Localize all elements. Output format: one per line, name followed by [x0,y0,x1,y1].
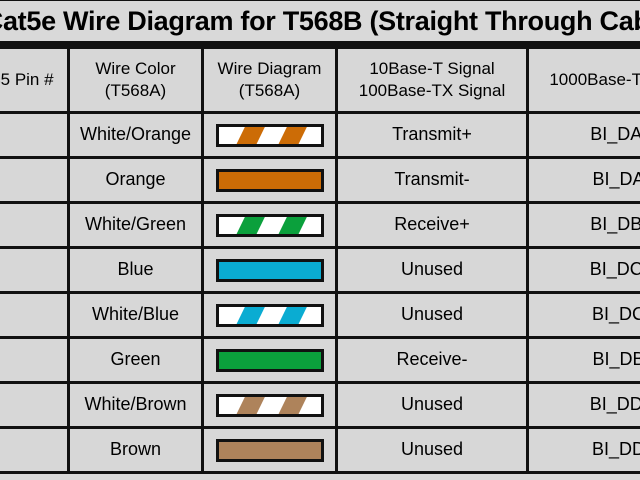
table-body: 1White/OrangeTransmit+BI_DA+2OrangeTrans… [0,114,640,471]
table-row: 1White/OrangeTransmit+BI_DA+ [0,114,640,156]
column-header-wire-diagram: Wire Diagram (T568A) [204,49,335,111]
cell-wire-color: Brown [70,429,201,471]
table-row: 3White/GreenReceive+BI_DB+ [0,204,640,246]
column-header-pin: RJ45 Pin # [0,49,67,111]
cell-10-100-signal: Unused [338,384,526,426]
cell-10-100-signal: Unused [338,249,526,291]
wire-swatch-striped [216,394,324,417]
table-row: 8BrownUnusedBI_DD- [0,429,640,471]
wire-stripe [229,304,269,327]
cell-pin-number: 2 [0,159,67,201]
cell-wire-color: White/Orange [70,114,201,156]
cell-wire-diagram [204,249,335,291]
cell-10-100-signal: Transmit- [338,159,526,201]
column-header-wire-color-line1: Wire Color [95,59,175,78]
column-header-1000base-t-line1: 1000Base-T Signal [549,70,640,89]
cell-1000-signal: BI_DA+ [529,114,640,156]
cell-1000-signal: BI_DC- [529,294,640,336]
cell-1000-signal: BI_DB- [529,339,640,381]
cell-pin-number: 7 [0,384,67,426]
screenshot-viewport: Cat5e Wire Diagram for T568B (Straight T… [0,0,640,480]
table-header: RJ45 Pin # Wire Color (T568A) Wire Diagr… [0,49,640,111]
column-header-wire-diagram-line1: Wire Diagram [218,59,322,78]
cell-pin-number: 3 [0,204,67,246]
cell-wire-color: White/Blue [70,294,201,336]
cell-10-100-signal: Unused [338,294,526,336]
cell-wire-diagram [204,339,335,381]
cell-pin-number: 6 [0,339,67,381]
column-header-wire-color-line2: (T568A) [70,80,201,102]
wire-swatch-solid [216,169,324,192]
wire-swatch-solid [216,439,324,462]
diagram-title-bar: Cat5e Wire Diagram for T568B (Straight T… [0,0,640,46]
column-header-1000-signal: 1000Base-T Signal [529,49,640,111]
table-row: 4BlueUnusedBI_DC+ [0,249,640,291]
cell-1000-signal: BI_DC+ [529,249,640,291]
wire-pinout-table: RJ45 Pin # Wire Color (T568A) Wire Diagr… [0,46,640,474]
column-header-wire-diagram-line2: (T568A) [204,80,335,102]
wire-stripe [271,124,311,147]
wire-stripe [229,124,269,147]
wire-stripe [271,394,311,417]
wire-stripe [229,214,269,237]
wire-swatch-solid [216,349,324,372]
cell-wire-diagram [204,114,335,156]
wire-swatch-striped [216,304,324,327]
cell-1000-signal: BI_DB+ [529,204,640,246]
cell-wire-diagram [204,159,335,201]
cell-pin-number: 1 [0,114,67,156]
column-header-10base-t: 10Base-T Signal [369,59,494,78]
cell-pin-number: 5 [0,294,67,336]
column-header-100base-tx: 100Base-TX Signal [338,80,526,102]
cell-10-100-signal: Transmit+ [338,114,526,156]
wire-diagram-sheet: Cat5e Wire Diagram for T568B (Straight T… [0,0,640,474]
cell-10-100-signal: Receive- [338,339,526,381]
cell-wire-diagram [204,429,335,471]
cell-1000-signal: BI_DD+ [529,384,640,426]
cell-pin-number: 4 [0,249,67,291]
table-row: 5White/BlueUnusedBI_DC- [0,294,640,336]
table-row: 2OrangeTransmit-BI_DA- [0,159,640,201]
column-header-wire-color: Wire Color (T568A) [70,49,201,111]
column-header-pin-line1: RJ45 Pin # [0,70,54,89]
wire-stripe [271,304,311,327]
wire-stripe [229,394,269,417]
cell-1000-signal: BI_DD- [529,429,640,471]
wire-swatch-striped [216,124,324,147]
cell-wire-diagram [204,384,335,426]
table-header-row: RJ45 Pin # Wire Color (T568A) Wire Diagr… [0,49,640,111]
page-title: Cat5e Wire Diagram for T568B (Straight T… [0,8,640,35]
wire-stripe [271,214,311,237]
cell-10-100-signal: Unused [338,429,526,471]
table-row: 6GreenReceive-BI_DB- [0,339,640,381]
cell-1000-signal: BI_DA- [529,159,640,201]
column-header-10-100-signal: 10Base-T Signal 100Base-TX Signal [338,49,526,111]
cell-10-100-signal: Receive+ [338,204,526,246]
cell-wire-color: Green [70,339,201,381]
cell-wire-color: White/Green [70,204,201,246]
cell-wire-diagram [204,294,335,336]
cell-wire-color: Blue [70,249,201,291]
wire-swatch-solid [216,259,324,282]
cell-wire-color: White/Brown [70,384,201,426]
wire-swatch-striped [216,214,324,237]
cell-pin-number: 8 [0,429,67,471]
table-row: 7White/BrownUnusedBI_DD+ [0,384,640,426]
cell-wire-color: Orange [70,159,201,201]
cell-wire-diagram [204,204,335,246]
